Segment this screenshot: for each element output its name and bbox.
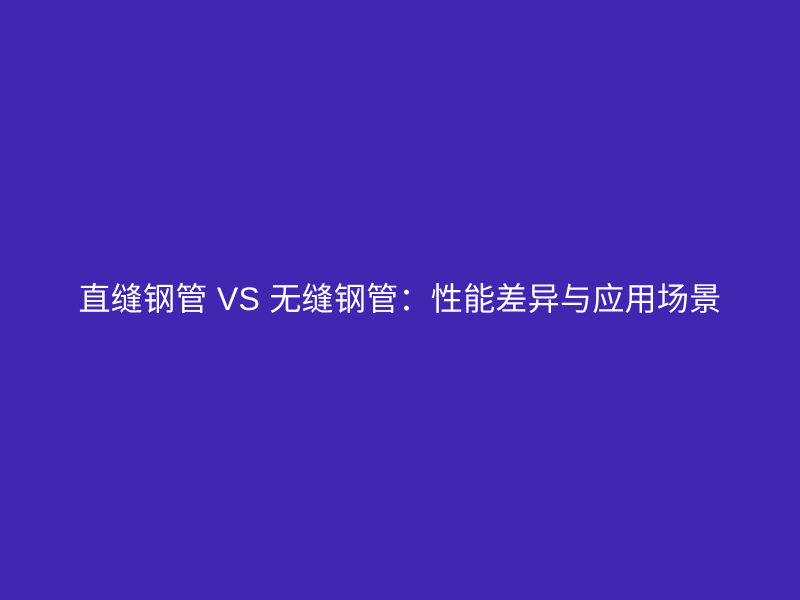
headline-container: 直缝钢管 VS 无缝钢管：性能差异与应用场景 — [0, 0, 800, 600]
page-title: 直缝钢管 VS 无缝钢管：性能差异与应用场景 — [40, 278, 760, 321]
title-card: 直缝钢管 VS 无缝钢管：性能差异与应用场景 — [0, 0, 800, 600]
